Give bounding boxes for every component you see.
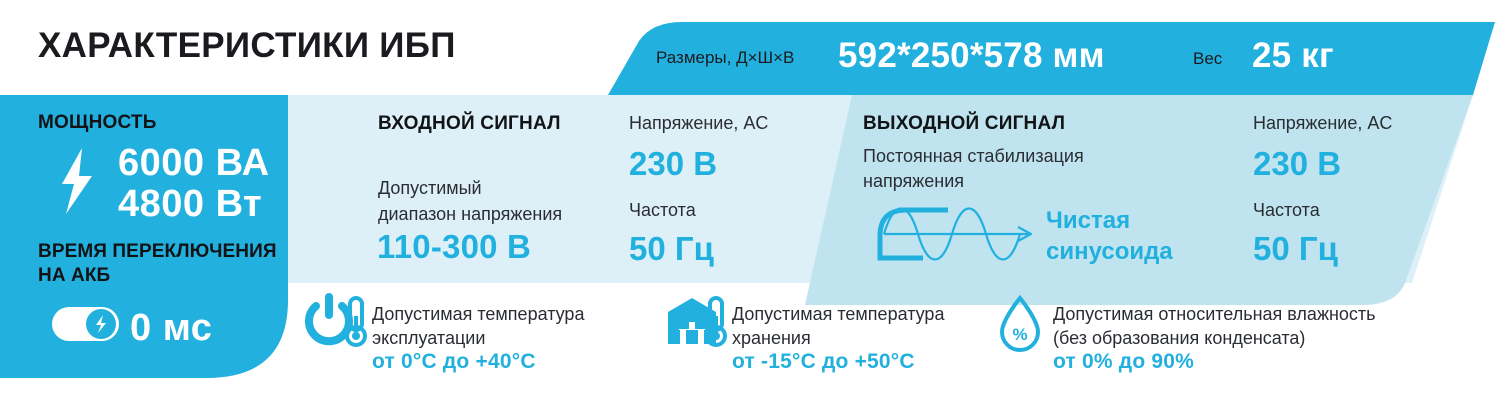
output-voltage-value: 230 В	[1253, 145, 1341, 183]
output-stabilization-text: Постоянная стабилизация напряжения	[863, 144, 1153, 194]
dimensions-label: Размеры, Д×Ш×В	[656, 48, 794, 68]
operating-temperature-value: от 0°C до +40°C	[372, 350, 536, 374]
switch-time-heading: ВРЕМЯ ПЕРЕКЛЮЧЕНИЯ НА АКБ	[38, 240, 288, 288]
output-voltage-label: Напряжение, AC	[1253, 113, 1392, 134]
humidity-label: Допустимая относительная влажность (без …	[1053, 302, 1403, 350]
storage-temperature-value: от -15°C до +50°C	[732, 350, 915, 374]
input-signal-heading: ВХОДНОЙ СИГНАЛ	[378, 113, 561, 135]
switch-time-value: 0 мс	[130, 307, 212, 350]
dimensions-value: 592*250*578 мм	[838, 36, 1105, 76]
output-frequency-value: 50 Гц	[1253, 230, 1338, 268]
power-value-va: 6000 ВА	[118, 142, 270, 185]
power-value-w: 4800 Вт	[118, 183, 262, 226]
input-range-value: 110-300 В	[377, 228, 531, 266]
page-title: ХАРАКТЕРИСТИКИ ИБП	[38, 26, 456, 66]
humidity-value: от 0% до 90%	[1053, 350, 1194, 374]
output-frequency-label: Частота	[1253, 200, 1320, 221]
operating-temperature-label: Допустимая температура эксплуатации	[372, 302, 612, 350]
output-waveform-text: Чистая синусоида	[1046, 205, 1206, 267]
input-range-label: Допустимый диапазон напряжения	[378, 175, 618, 227]
storage-temperature-label: Допустимая температура хранения	[732, 302, 972, 350]
input-voltage-value: 230 В	[629, 145, 717, 183]
weight-value: 25 кг	[1252, 36, 1334, 76]
power-heading: МОЩНОСТЬ	[38, 112, 157, 134]
ups-specifications-infographic: % ХАРАКТЕРИСТИКИ ИБП Размеры, Д×Ш×В 592*…	[0, 0, 1508, 408]
output-signal-heading: ВЫХОДНОЙ СИГНАЛ	[863, 113, 1065, 135]
input-frequency-value: 50 Гц	[629, 230, 714, 268]
input-frequency-label: Частота	[629, 200, 696, 221]
input-voltage-label: Напряжение, AC	[629, 113, 768, 134]
weight-label: Вес	[1193, 49, 1222, 69]
